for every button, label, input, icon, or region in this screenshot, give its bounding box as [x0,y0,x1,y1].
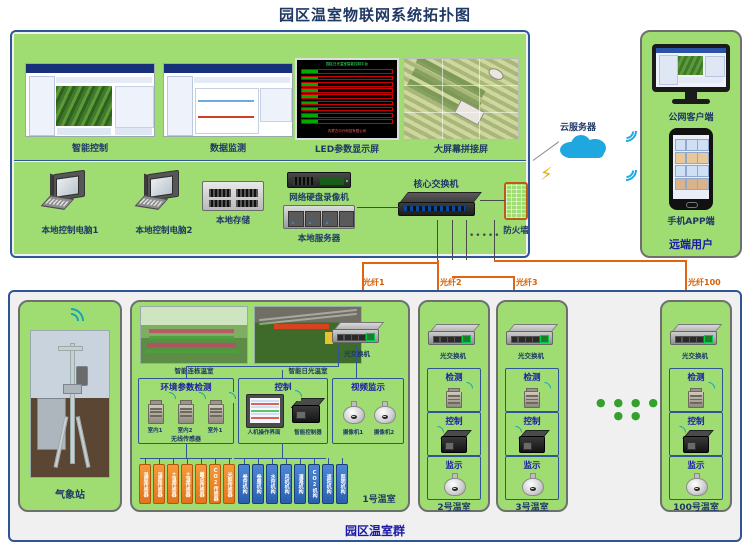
banner [274,324,329,329]
hmi-screen [250,398,280,422]
label-cloud-server: 云服务器 [548,120,608,133]
wifi-icon-gh100-node [702,382,714,392]
wifi-icon-gh2-controller [431,426,443,436]
app-title-bar-2 [164,64,292,73]
chip-stem [342,458,343,464]
greenhouse-1-detect-title: 环境参数检测 [138,381,234,393]
nvr-display [320,177,344,185]
crt-screen [56,175,79,197]
phone-screen [673,135,709,199]
mini-camera-view [678,56,703,76]
chip-stem [145,458,146,464]
chip-stem [201,458,202,464]
label-greenhouse-100: 100号温室 [660,500,732,513]
greenhouse-3-camera [520,472,544,498]
wall-seam [442,59,443,139]
greenhouse-group-heading: 园区温室群 [300,522,450,539]
app-tile [697,139,708,151]
camera-lens [382,415,389,420]
app-camera-view [56,86,112,126]
camera-dome [343,406,364,425]
drive-slot [209,189,231,197]
switch-front [332,329,379,343]
chip-actuator: 遮阳机构 [322,464,334,504]
sensor-bus [140,458,232,459]
camera-2 [372,400,396,426]
greenhouse-100-detect-title: 检测 [669,371,723,383]
wifi-icon-controller [288,390,301,401]
app-tile [675,165,686,177]
greenhouse-3-optical-switch [506,324,556,348]
wifi-icon-gh2-node [460,382,472,392]
label-sensor-node-outdoor-1: 室外1 [201,426,229,434]
mini-sidebar [659,55,678,85]
app-tile [675,152,686,164]
bus-detect-down [186,444,187,458]
hmi-row [251,400,279,402]
led-board-title: 园区日光温室智能控制平台 [297,62,397,67]
device-hmi-panel [246,394,284,428]
camera-lens [452,487,459,492]
app-control-grid [115,86,154,128]
chip-stem [314,458,315,464]
plant-row [149,336,234,340]
controller-port [523,442,532,449]
port [532,336,540,343]
chip-stem [300,458,301,464]
mini-panel [705,56,725,78]
camera-lens [694,487,701,492]
label-camera-1: 摄像机1 [336,428,370,436]
mast [70,343,75,465]
chip-stem [215,458,216,464]
hmi-row [251,406,279,408]
label-local-computer-1: 本地控制电脑1 [24,224,116,236]
camera-dome [522,478,543,497]
greenhouse-3-controller [519,430,547,454]
greenhouse-2-camera [442,472,466,498]
switch-front [670,331,717,345]
greenhouse-2-video-title: 监示 [427,459,481,471]
link-server-to-switch [357,207,399,208]
camera-lens [351,415,358,420]
aerial-tank [487,66,506,82]
fiber-1-route [362,262,438,264]
greenhouse-100-controller [683,430,711,454]
link-switch-to-detect [338,346,339,366]
cross-arm [58,346,83,351]
page-title: 园区温室物联网系统拓扑图 [0,4,750,25]
data-table [260,88,292,122]
label-greenhouse-1: 1号温室 [352,492,406,505]
monitor-viewport [656,48,726,88]
link-detect-drop [186,366,187,378]
mini-statusbar [678,77,723,83]
label-smart-controller: 智能控制器 [286,428,330,436]
node-body [178,404,194,423]
nvr-vent [293,177,313,185]
hmi-row [251,413,279,415]
plant-row [147,343,236,347]
controller-front [519,436,545,453]
led-row [301,82,393,87]
chip-sensor: 露点传感器 [195,464,207,504]
chip-sensor: 温度传感器 [139,464,151,504]
chip-actuator: 灌溉机构 [294,464,306,504]
chip-actuator: 风机机构 [280,464,292,504]
greenhouse-1-photo-multispan [140,306,248,364]
remote-users-heading: 远端用户 [652,236,730,252]
screen-label-data-monitor: 数据监测 [163,141,293,154]
greenhouse-2-detect-title: 检测 [427,371,481,383]
device-firewall [504,182,528,220]
crt-screen [150,175,173,197]
app-tabbar [56,77,152,83]
chip-stem [286,458,287,464]
wifi-icon-weather-station [58,308,82,328]
wall-seam [479,59,480,139]
cloud-server-icon [560,133,608,159]
screen-led-board: 园区日光温室智能控制平台 内蒙古中兴科技有限公司 [295,58,399,140]
led-row [301,113,393,118]
app-tile [686,178,697,190]
server-bay [322,211,338,227]
controller-port [296,411,306,419]
camera-lens [530,487,537,492]
weather-station-photo [30,330,110,478]
label-sensor-node-indoor-2: 室内2 [171,426,199,434]
greenhouse-2-controller [441,430,469,454]
chip-stem [173,458,174,464]
port [696,336,704,343]
label-greenhouse-3: 3号温室 [496,500,568,513]
greenhouse-1-control-title: 控制 [238,381,328,393]
hmi-row [251,417,279,419]
lightning-icon: ⚡ [540,164,553,185]
status-led [292,222,294,224]
app-sidebar-2 [167,76,193,136]
chip-stem [244,458,245,464]
switch-downlink-ellipsis: ••••• [469,231,501,241]
fiber-label-100: 光纤100 [688,277,721,288]
app-tile [697,152,708,164]
screen-data-monitor [163,63,293,137]
controller-front [292,405,320,423]
fiber-label-1: 光纤1 [363,277,385,288]
node-body [208,404,224,423]
led-row [301,101,393,106]
status-led [346,180,348,182]
camera-1 [341,400,365,426]
topology-diagram: 园区温室物联网系统拓扑图 控制中心 智能控制 数据监测 园区日光温室智能控制平台 [0,0,750,550]
label-greenhouse-100-optical-switch: 光交换机 [670,350,720,360]
chip-stem [272,458,273,464]
device-local-server [283,205,355,229]
led-row [301,94,393,99]
chip-sensor: 湿度传感器 [153,464,165,504]
server-bay [305,211,321,227]
server-bay [288,211,304,227]
led-row [301,119,393,124]
label-local-storage: 本地存储 [203,214,263,226]
fiber-port [366,333,375,341]
node-body [446,391,462,408]
led-row [301,76,393,81]
wifi-icon-node-2 [192,392,205,403]
device-public-client-monitor [652,44,730,106]
chart-area [195,88,259,134]
label-greenhouse-1-optical-switch: 光交换机 [332,348,382,358]
device-nvr [287,172,351,188]
node-body [688,391,704,408]
hmi-row [251,410,279,412]
link-video-drop [356,346,357,378]
screen-smart-control [25,63,155,137]
screen-video-wall [403,58,519,140]
plant-row [149,329,234,333]
hmi-row [251,403,279,405]
phone-home-button [686,202,699,208]
switch-downlink-2 [452,220,453,260]
app-tile [686,152,697,164]
device-local-computer-1 [44,172,92,212]
link-control-drop [282,370,283,378]
wifi-icon-gh3-controller [509,426,521,436]
fiber-port [704,335,713,343]
switch-ports [404,206,466,211]
chip-stem [187,458,188,464]
label-greenhouse-2-optical-switch: 光交换机 [428,350,478,360]
label-local-server: 本地服务器 [283,232,355,244]
switch-front [398,202,475,216]
chart-line-blue [198,100,254,102]
switch-downlink-1 [437,220,438,260]
app-tabbar-2 [194,77,290,83]
app-tile [675,178,686,190]
chip-stem [229,458,230,464]
controller-front [441,436,467,453]
camera-dome [444,478,465,497]
app-sidebar [29,76,55,136]
greenhouse-ellipsis: ● ● ● ● ● ● [588,396,668,422]
wifi-icon-cloud-down [613,157,635,179]
fiber-label-3: 光纤3 [516,277,538,288]
cloud-base [564,147,604,158]
wifi-icon-node-3 [222,392,235,403]
link-detect-bus [186,366,339,367]
label-sensor-node-indoor-1: 室内1 [141,426,169,434]
label-greenhouse-2: 2号温室 [418,500,490,513]
led-row [301,69,393,74]
screen-label-video-wall: 大屏幕拼接屏 [403,142,519,155]
monitor-base [672,99,709,103]
label-nvr: 网络硬盘录像机 [281,191,357,203]
controller-port [445,442,454,449]
port [454,336,462,343]
device-mobile-app [669,128,713,210]
chip-actuator: 卷帘机构 [238,464,250,504]
greenhouse-1-optical-switch [332,322,382,346]
status-led [309,222,311,224]
switch-front [506,331,553,345]
chip-sensor: 光照传感器 [223,464,235,504]
server-bay [339,211,354,227]
drive-slot [236,189,258,197]
wifi-icon-node-1 [162,392,175,403]
switch-front [428,331,475,345]
chip-actuator: 水帘机构 [266,464,278,504]
greenhouse-1-video-title: 视频监示 [332,381,404,393]
wifi-icon-gh3-node [538,382,550,392]
plant-row [145,350,238,354]
app-title-bar [26,64,154,73]
fiber-100-route [494,260,686,262]
status-led [326,222,328,224]
label-greenhouse-3-optical-switch: 光交换机 [506,350,556,360]
app-status-row [57,128,111,135]
camera-dome [686,478,707,497]
device-local-storage [202,181,264,211]
chip-actuator: 卷膜机构 [252,464,264,504]
wall-seam [404,85,518,86]
control-center-divider [14,160,526,161]
device-local-computer-2 [138,172,186,212]
chip-stem [328,458,329,464]
app-tile [697,165,708,177]
chip-stem [159,458,160,464]
fiber-port [540,335,549,343]
label-public-client: 公网客户端 [652,110,730,123]
fiber-port [462,335,471,343]
controller-front [683,436,709,453]
greenhouse-100-video-title: 监示 [669,459,723,471]
app-tile [697,178,708,190]
app-tile [686,165,697,177]
app-status-row-2 [115,128,152,135]
drive-slot [209,200,231,207]
switch-downlink-3 [466,220,467,260]
controller-port [687,442,696,449]
camera-dome [374,406,395,425]
greenhouse-100-optical-switch [670,324,720,348]
node-body [148,404,164,423]
chip-stem [258,458,259,464]
bus-control-down [282,444,283,458]
drive-slot [236,200,258,207]
device-core-switch [398,192,480,220]
led-board-footer: 内蒙古中兴科技有限公司 [297,129,397,134]
chip-actuator: 照明机构 [336,464,348,504]
chip-actuator: CO2机构 [308,464,320,504]
radiation-shield [63,384,82,395]
label-hmi-panel: 人机操作界面 [240,428,288,436]
actuator-bus [234,458,326,459]
mini-titlebar [656,48,726,54]
wifi-icon-gh100-controller [673,426,685,436]
label-camera-2: 摄像机2 [367,428,401,436]
node-body [524,391,540,408]
app-tile [675,139,686,151]
link-switch-to-firewall [480,200,505,201]
label-core-switch: 核心交换机 [400,177,472,190]
tripod-leg [76,416,91,467]
greenhouse-3-detect-title: 检测 [505,371,559,383]
caption-wireless-sensors: 无线传感器 [138,434,234,443]
fiber-label-2: 光纤2 [440,277,462,288]
wifi-icon-cloud-up [613,118,635,140]
label-weather-station: 气象站 [30,486,110,501]
screen-label-led-board: LED参数显示屏 [291,142,403,155]
greenhouse-2-optical-switch [428,324,478,348]
wall-seam [404,112,518,113]
link-firewall-to-cloud [533,141,559,161]
port [358,334,366,341]
greenhouse-3-video-title: 监示 [505,459,559,471]
label-mobile-app: 手机APP端 [656,214,726,227]
chart-line-red [198,116,254,118]
led-row [301,107,393,112]
chip-sensor: 土温传感器 [167,464,179,504]
app-tile [686,139,697,151]
screen-label-smart-control: 智能控制 [25,141,155,154]
chip-sensor: 土湿传感器 [181,464,193,504]
greenhouse-100-camera [684,472,708,498]
chip-sensor: CO2传感器 [209,464,221,504]
led-row [301,88,393,93]
label-local-computer-2: 本地控制电脑2 [118,224,210,236]
